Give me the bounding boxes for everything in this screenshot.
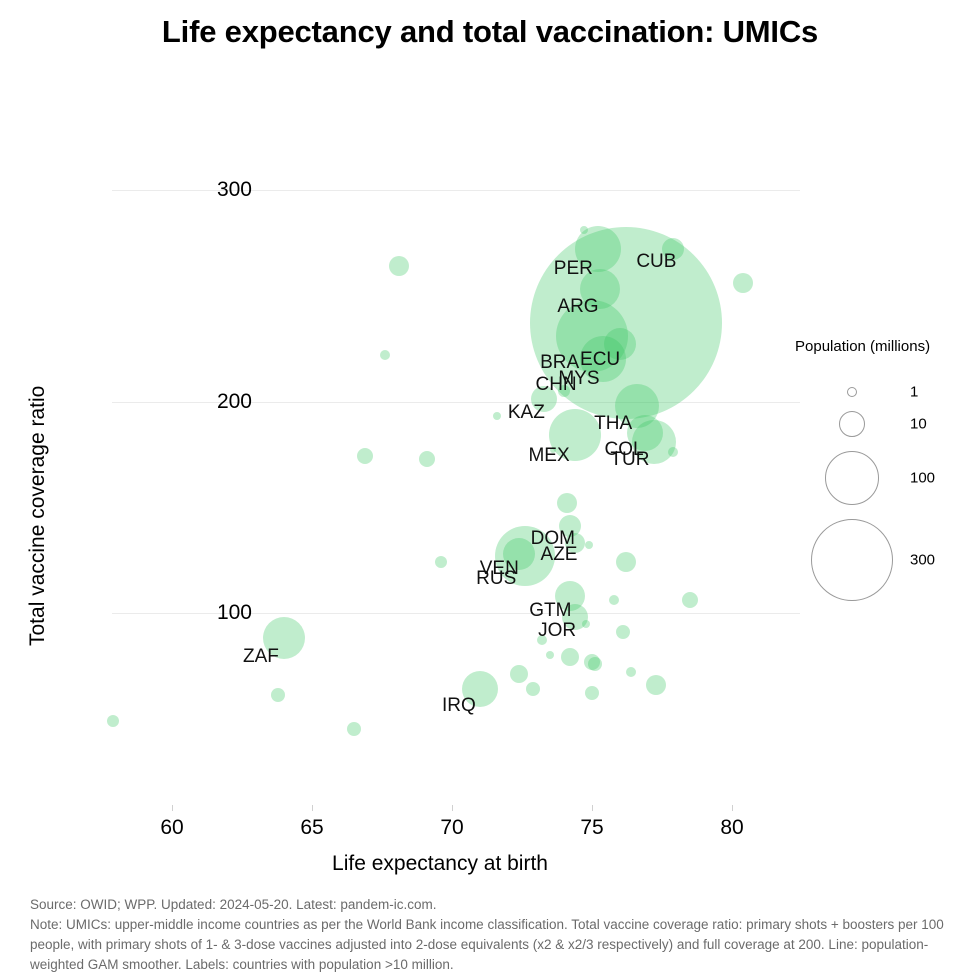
- bubble-label-jor: JOR: [538, 620, 576, 642]
- bubble-point[interactable]: [668, 447, 678, 457]
- bubble-label-tur: TUR: [610, 449, 649, 471]
- footnotes: Source: OWID; WPP. Updated: 2024-05-20. …: [30, 895, 960, 975]
- x-axis-tick-label: 70: [412, 816, 492, 840]
- bubble-point[interactable]: [588, 657, 602, 671]
- bubble-label-mex: MEX: [528, 445, 569, 467]
- bubble-label-irq: IRQ: [442, 695, 476, 717]
- footnote-note: Note: UMICs: upper-middle income countri…: [30, 915, 960, 975]
- y-axis-tick-label: 300: [132, 178, 252, 202]
- bubble-point[interactable]: [546, 651, 554, 659]
- bubble-label-mys: MYS: [558, 368, 599, 390]
- x-axis-tick-label: 75: [552, 816, 632, 840]
- bubble-label-per: PER: [554, 258, 593, 280]
- legend-circle-300: [811, 519, 893, 601]
- bubble-point[interactable]: [682, 592, 698, 608]
- x-axis-tick-mark: [732, 805, 733, 811]
- legend-circle-10: [839, 411, 865, 437]
- bubble-point[interactable]: [557, 493, 577, 513]
- x-axis-tick-mark: [592, 805, 593, 811]
- x-axis-tick-label: 80: [692, 816, 772, 840]
- x-axis-tick-mark: [172, 805, 173, 811]
- legend-label-10: 10: [910, 416, 927, 433]
- bubble-label-aze: AZE: [541, 544, 578, 566]
- bubble-label-cub: CUB: [636, 251, 676, 273]
- legend-label-1: 1: [910, 384, 918, 401]
- x-axis-tick-mark: [452, 805, 453, 811]
- bubble-point[interactable]: [616, 552, 636, 572]
- bubble-label-rus: RUS: [476, 568, 516, 590]
- legend-circle-100: [825, 451, 879, 505]
- bubble-point[interactable]: [585, 686, 599, 700]
- bubble-point[interactable]: [107, 715, 119, 727]
- bubble-point[interactable]: [626, 667, 636, 677]
- bubble-point[interactable]: [733, 273, 753, 293]
- page-title: Life expectancy and total vaccination: U…: [0, 14, 980, 50]
- legend-circle-1: [847, 387, 857, 397]
- bubble-label-zaf: ZAF: [243, 646, 279, 668]
- x-axis-tick-label: 60: [132, 816, 212, 840]
- bubble-point[interactable]: [380, 350, 390, 360]
- bubble-point[interactable]: [580, 226, 588, 234]
- bubble-point[interactable]: [435, 556, 447, 568]
- bubble-label-arg: ARG: [557, 296, 598, 318]
- legend-label-300: 300: [910, 552, 935, 569]
- bubble-point[interactable]: [510, 665, 528, 683]
- legend-label-100: 100: [910, 470, 935, 487]
- bubble-label-kaz: KAZ: [508, 402, 545, 424]
- footnote-source: Source: OWID; WPP. Updated: 2024-05-20. …: [30, 895, 960, 915]
- y-axis-label: Total vaccine coverage ratio: [26, 386, 50, 646]
- bubble-point[interactable]: [347, 722, 361, 736]
- y-axis-tick-label: 100: [132, 601, 252, 625]
- bubble-point[interactable]: [526, 682, 540, 696]
- bubble-point[interactable]: [582, 620, 590, 628]
- y-axis-tick-label: 200: [132, 390, 252, 414]
- legend-title: Population (millions): [795, 338, 980, 355]
- bubble-point[interactable]: [561, 648, 579, 666]
- x-axis-tick-label: 65: [272, 816, 352, 840]
- bubble-label-tha: THA: [594, 413, 632, 435]
- bubble-point[interactable]: [609, 595, 619, 605]
- size-legend: Population (millions) 110100300: [795, 338, 980, 361]
- x-axis-tick-mark: [312, 805, 313, 811]
- bubble-point[interactable]: [585, 541, 593, 549]
- bubble-point[interactable]: [419, 451, 435, 467]
- bubble-point[interactable]: [357, 448, 373, 464]
- bubble-point[interactable]: [616, 625, 630, 639]
- bubble-label-gtm: GTM: [529, 600, 571, 622]
- bubble-point[interactable]: [493, 412, 501, 420]
- x-axis-label: Life expectancy at birth: [0, 852, 880, 876]
- bubble-point[interactable]: [271, 688, 285, 702]
- bubble-point[interactable]: [646, 675, 666, 695]
- bubble-point[interactable]: [389, 256, 409, 276]
